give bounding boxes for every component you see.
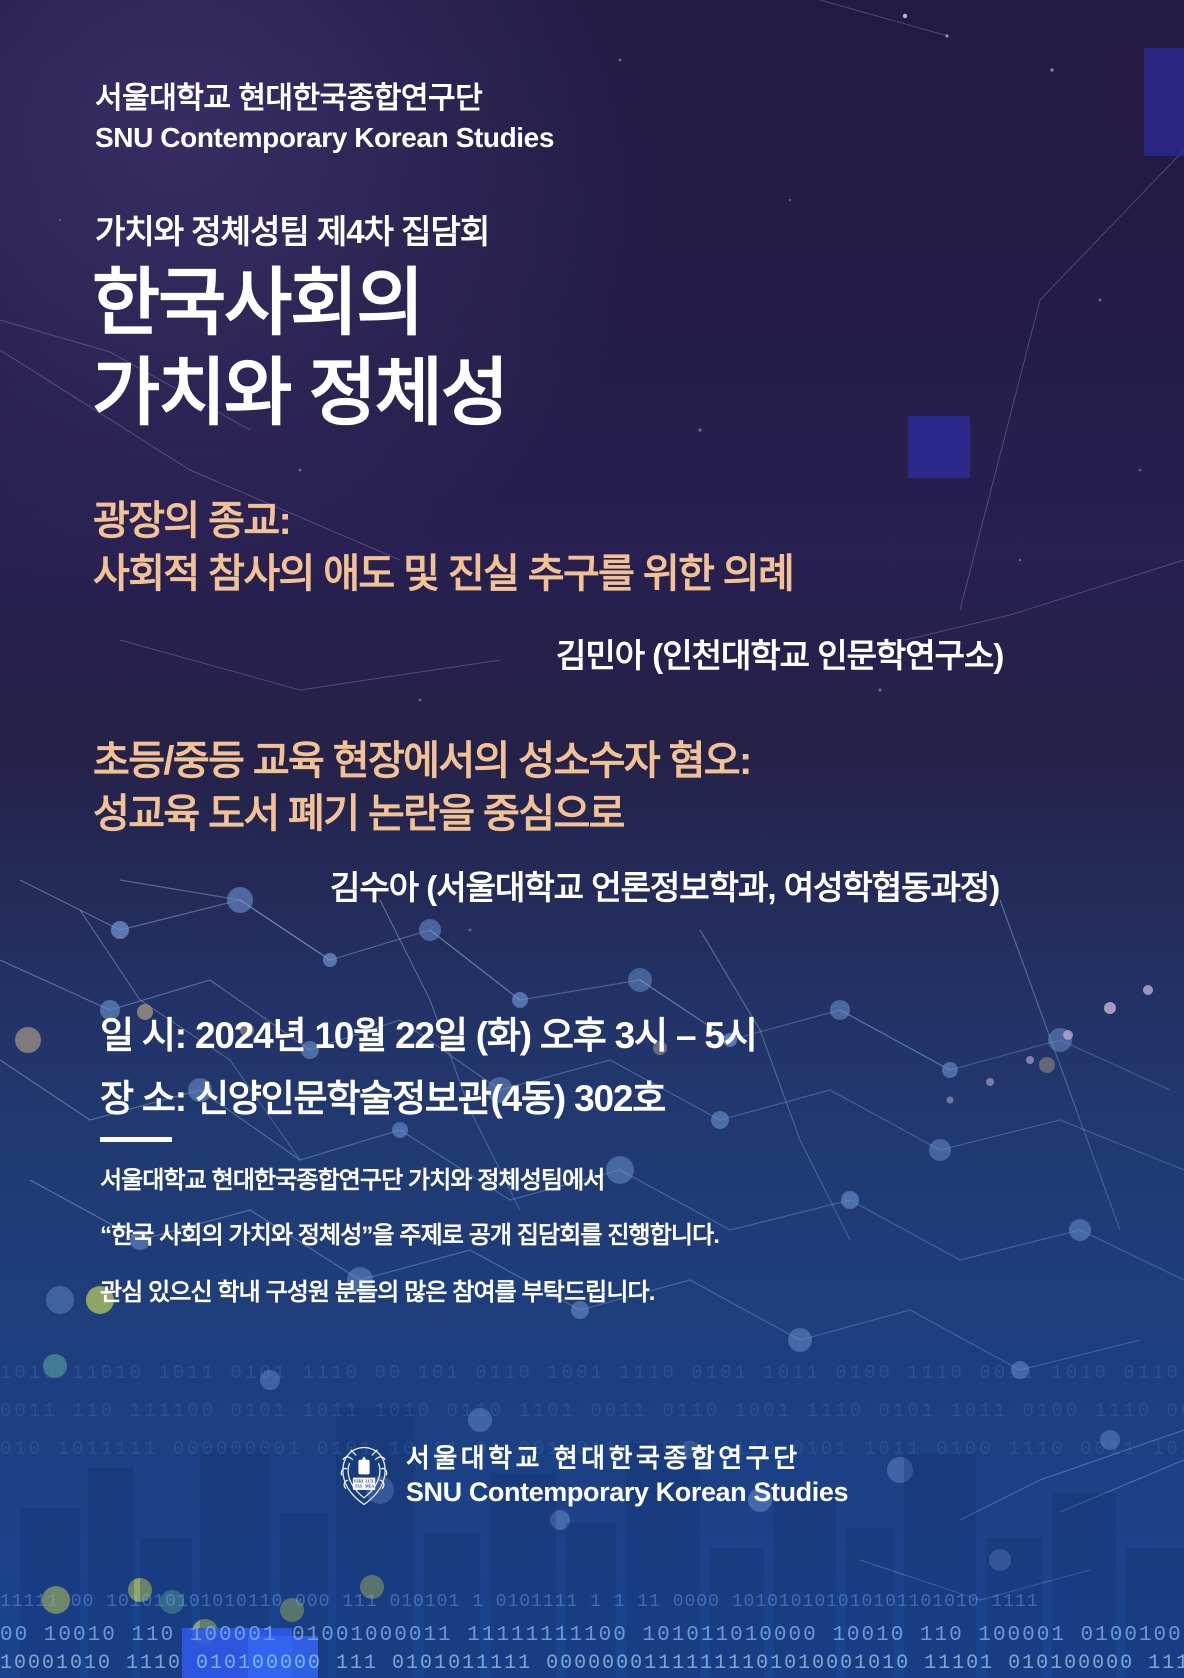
footer-org-ko: 서울대학교 현대한국종합연구단 bbox=[406, 1442, 848, 1475]
binary-strip-2: 00 10010 110 100001 01001000011 11111111… bbox=[0, 1624, 1184, 1647]
svg-text:LUX: LUX bbox=[365, 1479, 373, 1483]
event-place-value: 신양인문학술정보관(4동) 302호 bbox=[195, 1078, 665, 1119]
event-place-separator: : bbox=[175, 1078, 195, 1119]
description-line-3: 관심 있으신 학내 구성원 분들의 많은 참여를 부탁드립니다. bbox=[100, 1272, 654, 1307]
accent-square-mid-right bbox=[908, 416, 970, 478]
poster-canvas: 1010 11010 1011 0101 1110 00 101 0110 10… bbox=[0, 0, 1184, 1678]
binary-strip-1: 11111 00 101010101010110 000 111 010101 … bbox=[0, 1592, 1184, 1612]
talk-1-title-line-2: 사회적 참사의 애도 및 진실 추구를 위한 의례 bbox=[93, 548, 793, 601]
description-line-2: “한국 사회의 가치와 정체성”을 주제로 공개 집담회를 진행합니다. bbox=[100, 1215, 719, 1250]
event-date-label: 일 시 bbox=[100, 1015, 175, 1056]
event-date-value: 2024년 10월 22일 (화) 오후 3시 – 5시 bbox=[195, 1015, 757, 1056]
talk-2-title-line-2: 성교육 도서 폐기 논란을 중심으로 bbox=[93, 788, 751, 841]
binary-strip-3: 10001010 1110 010100000 111 0101011111 0… bbox=[0, 1652, 1184, 1675]
svg-text:VERI: VERI bbox=[353, 1479, 363, 1483]
description-block: 서울대학교 현대한국종합연구단 가치와 정체성팀에서 bbox=[100, 1160, 604, 1195]
organization-name-ko: 서울대학교 현대한국종합연구단 bbox=[95, 80, 554, 118]
event-date-row: 일 시: 2024년 10월 22일 (화) 오후 3시 – 5시 bbox=[100, 1005, 757, 1059]
organization-header: 서울대학교 현대한국종합연구단 SNU Contemporary Korean … bbox=[95, 80, 554, 156]
event-kicker: 가치와 정체성팀 제4차 집담회 bbox=[95, 205, 489, 253]
talk-1-title: 광장의 종교: 사회적 참사의 애도 및 진실 추구를 위한 의례 bbox=[93, 495, 793, 601]
page-title-line-2: 가치와 정체성 bbox=[92, 348, 507, 438]
footer-logo-block: VERI LUX TAS MEA 서울대학교 현대한국종합연구단 SNU Con… bbox=[0, 1442, 1184, 1509]
talk-1-title-line-1: 광장의 종교: bbox=[93, 495, 793, 548]
page-title-line-1: 한국사회의 bbox=[92, 258, 507, 348]
event-place-label: 장 소 bbox=[100, 1078, 175, 1119]
event-place-row: 장 소: 신양인문학술정보관(4동) 302호 bbox=[100, 1068, 665, 1122]
talk-2-title: 초등/중등 교육 현장에서의 성소수자 혐오: 성교육 도서 폐기 논란을 중심… bbox=[93, 735, 751, 841]
footer-org-en: SNU Contemporary Korean Studies bbox=[406, 1476, 848, 1510]
talk-1-speaker: 김민아 (인천대학교 인문학연구소) bbox=[556, 629, 1003, 677]
accent-square-top-right bbox=[1144, 48, 1184, 156]
binary-decoration-city-1: 1010 11010 1011 0101 1110 00 101 0110 10… bbox=[0, 1362, 1184, 1384]
description-line-1: 서울대학교 현대한국종합연구단 가치와 정체성팀에서 bbox=[100, 1160, 604, 1195]
page-title: 한국사회의 가치와 정체성 bbox=[92, 258, 507, 439]
organization-name-en: SNU Contemporary Korean Studies bbox=[95, 120, 554, 156]
divider-rule bbox=[100, 1137, 172, 1142]
talk-2-speaker: 김수아 (서울대학교 언론정보학과, 여성학협동과정) bbox=[330, 861, 999, 909]
svg-text:MEA: MEA bbox=[365, 1484, 374, 1488]
binary-decoration-city-2: 0011 110 111100 0101 1011 1010 0110 1101… bbox=[0, 1400, 1184, 1422]
svg-text:TAS: TAS bbox=[355, 1484, 362, 1488]
event-date-separator: : bbox=[175, 1015, 195, 1056]
footer-text: 서울대학교 현대한국종합연구단 SNU Contemporary Korean … bbox=[406, 1442, 848, 1509]
talk-2-title-line-1: 초등/중등 교육 현장에서의 성소수자 혐오: bbox=[93, 735, 751, 788]
snu-crest-icon: VERI LUX TAS MEA bbox=[336, 1443, 392, 1509]
